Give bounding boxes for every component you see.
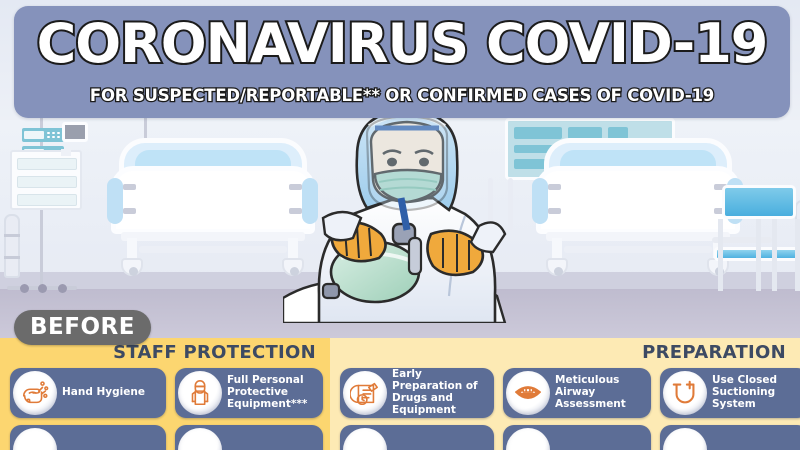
card-row-staff: Hand Hygiene Full Personal Protective Eq… bbox=[0, 368, 323, 418]
iv-pole-foot bbox=[38, 284, 47, 293]
section-staff-protection: BEFORE STAFF PROTECTION Hand bbox=[0, 338, 330, 450]
placeholder-icon bbox=[178, 428, 222, 450]
patient-monitor bbox=[62, 122, 88, 142]
placeholder-icon bbox=[506, 428, 550, 450]
oxygen-tank bbox=[4, 214, 20, 278]
card-label: Hand Hygiene bbox=[62, 387, 145, 399]
card-label: Full Personal Protective Equipment*** bbox=[227, 375, 313, 411]
page-title: CORONAVIRUS COVID-19 bbox=[14, 16, 790, 71]
phase-badge-before: BEFORE bbox=[14, 310, 151, 345]
section-heading-staff-protection: STAFF PROTECTION bbox=[113, 342, 316, 363]
card-partial-next-row[interactable] bbox=[503, 425, 651, 450]
placeholder-icon bbox=[663, 428, 707, 450]
placeholder-icon bbox=[343, 428, 387, 450]
wall-shelf-unit bbox=[22, 128, 64, 142]
card-label: Use Closed Suctioning System bbox=[712, 375, 798, 411]
section-heading-preparation: PREPARATION bbox=[642, 342, 786, 363]
section-preparation: PREPARATION Early Preparation of Dr bbox=[330, 338, 800, 450]
card-early-preparation[interactable]: Early Preparation of Drugs and Equipment bbox=[340, 368, 494, 418]
card-row-staff-2 bbox=[0, 425, 323, 450]
card-row-preparation: Early Preparation of Drugs and Equipment… bbox=[330, 368, 800, 418]
card-full-ppe[interactable]: Full Personal Protective Equipment*** bbox=[175, 368, 323, 418]
card-row-preparation-2 bbox=[330, 425, 800, 450]
iv-pole-foot bbox=[58, 284, 67, 293]
card-partial-next-row[interactable] bbox=[10, 425, 166, 450]
protocol-sections: BEFORE STAFF PROTECTION Hand bbox=[0, 338, 800, 450]
open-mouth-airway-icon bbox=[506, 371, 550, 415]
hand-washing-icon bbox=[13, 371, 57, 415]
card-hand-hygiene[interactable]: Hand Hygiene bbox=[10, 368, 166, 418]
supply-cabinet bbox=[10, 150, 82, 210]
card-partial-next-row[interactable] bbox=[660, 425, 800, 450]
page-subtitle: FOR SUSPECTED/REPORTABLE** OR CONFIRMED … bbox=[14, 86, 790, 105]
card-airway-assessment[interactable]: Meticulous Airway Assessment bbox=[503, 368, 651, 418]
card-closed-suctioning[interactable]: Use Closed Suctioning System bbox=[660, 368, 800, 418]
card-label: Meticulous Airway Assessment bbox=[555, 375, 641, 411]
poster-header: CORONAVIRUS COVID-19 FOR SUSPECTED/REPOR… bbox=[14, 6, 790, 118]
suction-tubing-icon bbox=[663, 371, 707, 415]
card-partial-next-row[interactable] bbox=[340, 425, 494, 450]
visitor-chair bbox=[712, 185, 800, 295]
ppe-gown-person-icon bbox=[178, 371, 222, 415]
card-label: Early Preparation of Drugs and Equipment bbox=[392, 369, 484, 417]
placeholder-icon bbox=[13, 428, 57, 450]
clipboard-pencil-icon bbox=[343, 371, 387, 415]
infographic-poster: CORONAVIRUS COVID-19 FOR SUSPECTED/REPOR… bbox=[0, 0, 800, 450]
card-partial-next-row[interactable] bbox=[175, 425, 323, 450]
iv-pole-foot bbox=[20, 284, 29, 293]
illustration-healthcare-worker bbox=[283, 98, 518, 323]
